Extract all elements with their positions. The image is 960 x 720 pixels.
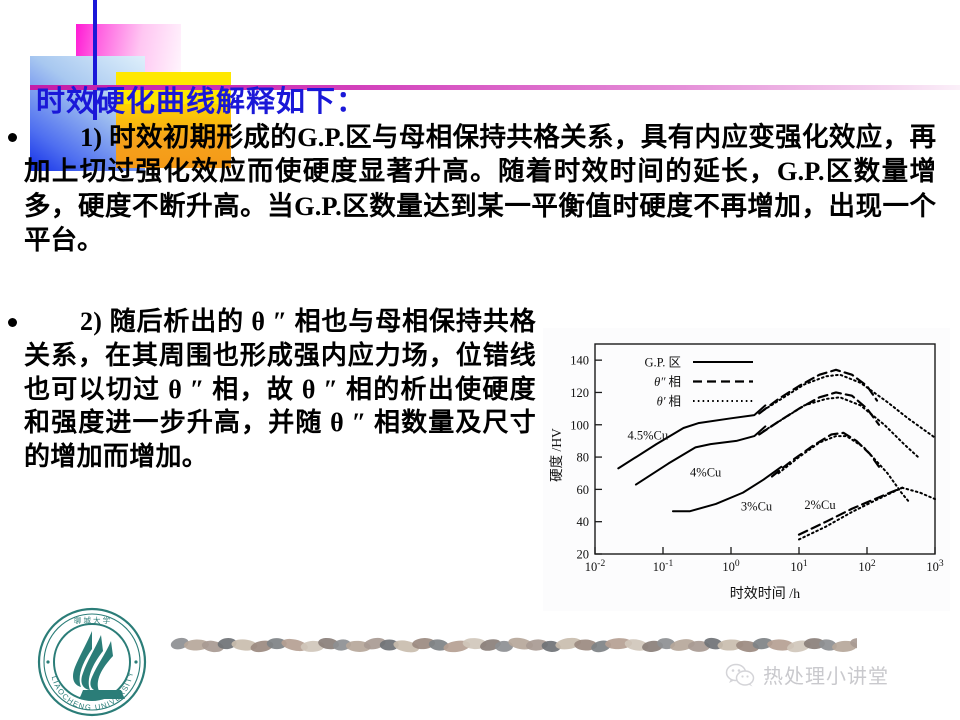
bullet-dot-icon	[8, 318, 17, 327]
svg-text:102: 102	[858, 559, 876, 574]
watermark-label: 热处理小讲堂	[763, 660, 889, 689]
svg-text:时效时间 /h: 时效时间 /h	[730, 586, 800, 602]
svg-text:100: 100	[722, 559, 740, 574]
svg-text:4%Cu: 4%Cu	[690, 465, 722, 479]
svg-text:10-1: 10-1	[653, 559, 674, 574]
svg-text:103: 103	[926, 559, 944, 574]
svg-text:120: 120	[570, 386, 589, 400]
svg-text:140: 140	[570, 354, 589, 368]
bullet-dot-icon	[8, 133, 17, 142]
page-title: 时效硬化曲线解释如下：	[36, 78, 366, 120]
bullet-2-text: 2) 随后析出的 θ ″ 相也与母相保持共格关系，在其周围也形成强内应力场，位错…	[24, 305, 536, 474]
svg-text:80: 80	[577, 451, 590, 465]
svg-text:101: 101	[790, 559, 808, 574]
aging-hardening-curve-chart: 2040608010012014010-210-1100101102103时效时…	[543, 328, 950, 611]
svg-text:θ″相: θ″相	[654, 375, 681, 389]
bullet-item-1: 1) 时效初期形成的G.P.区与母相保持共格关系，具有内应变强化效应，再加上切过…	[8, 120, 952, 258]
wechat-icon	[725, 663, 755, 687]
svg-text:60: 60	[577, 483, 590, 497]
decorative-pebble-divider	[167, 632, 857, 658]
watermark: 热处理小讲堂	[725, 660, 889, 689]
liaocheng-university-logo: 聊 城 大 学 LIAOCHENG UNIVERSITY	[37, 607, 147, 717]
svg-text:100: 100	[570, 418, 589, 432]
svg-text:4.5%Cu: 4.5%Cu	[627, 428, 668, 442]
svg-text:2%Cu: 2%Cu	[804, 498, 836, 512]
svg-text:G.P. 区: G.P. 区	[645, 356, 681, 370]
svg-text:θ′相: θ′相	[657, 395, 681, 409]
svg-text:10-2: 10-2	[585, 559, 606, 574]
svg-text:硬度 /HV: 硬度 /HV	[549, 428, 564, 482]
bullet-1-text: 1) 时效初期形成的G.P.区与母相保持共格关系，具有内应变强化效应，再加上切过…	[24, 120, 936, 258]
svg-text:聊 城 大 学: 聊 城 大 学	[74, 615, 111, 625]
svg-text:40: 40	[577, 515, 590, 529]
svg-text:3%Cu: 3%Cu	[741, 499, 773, 513]
slide-canvas: 时效硬化曲线解释如下： 1) 时效初期形成的G.P.区与母相保持共格关系，具有内…	[0, 0, 960, 720]
bullet-item-2: 2) 随后析出的 θ ″ 相也与母相保持共格关系，在其周围也形成强内应力场，位错…	[8, 305, 553, 474]
